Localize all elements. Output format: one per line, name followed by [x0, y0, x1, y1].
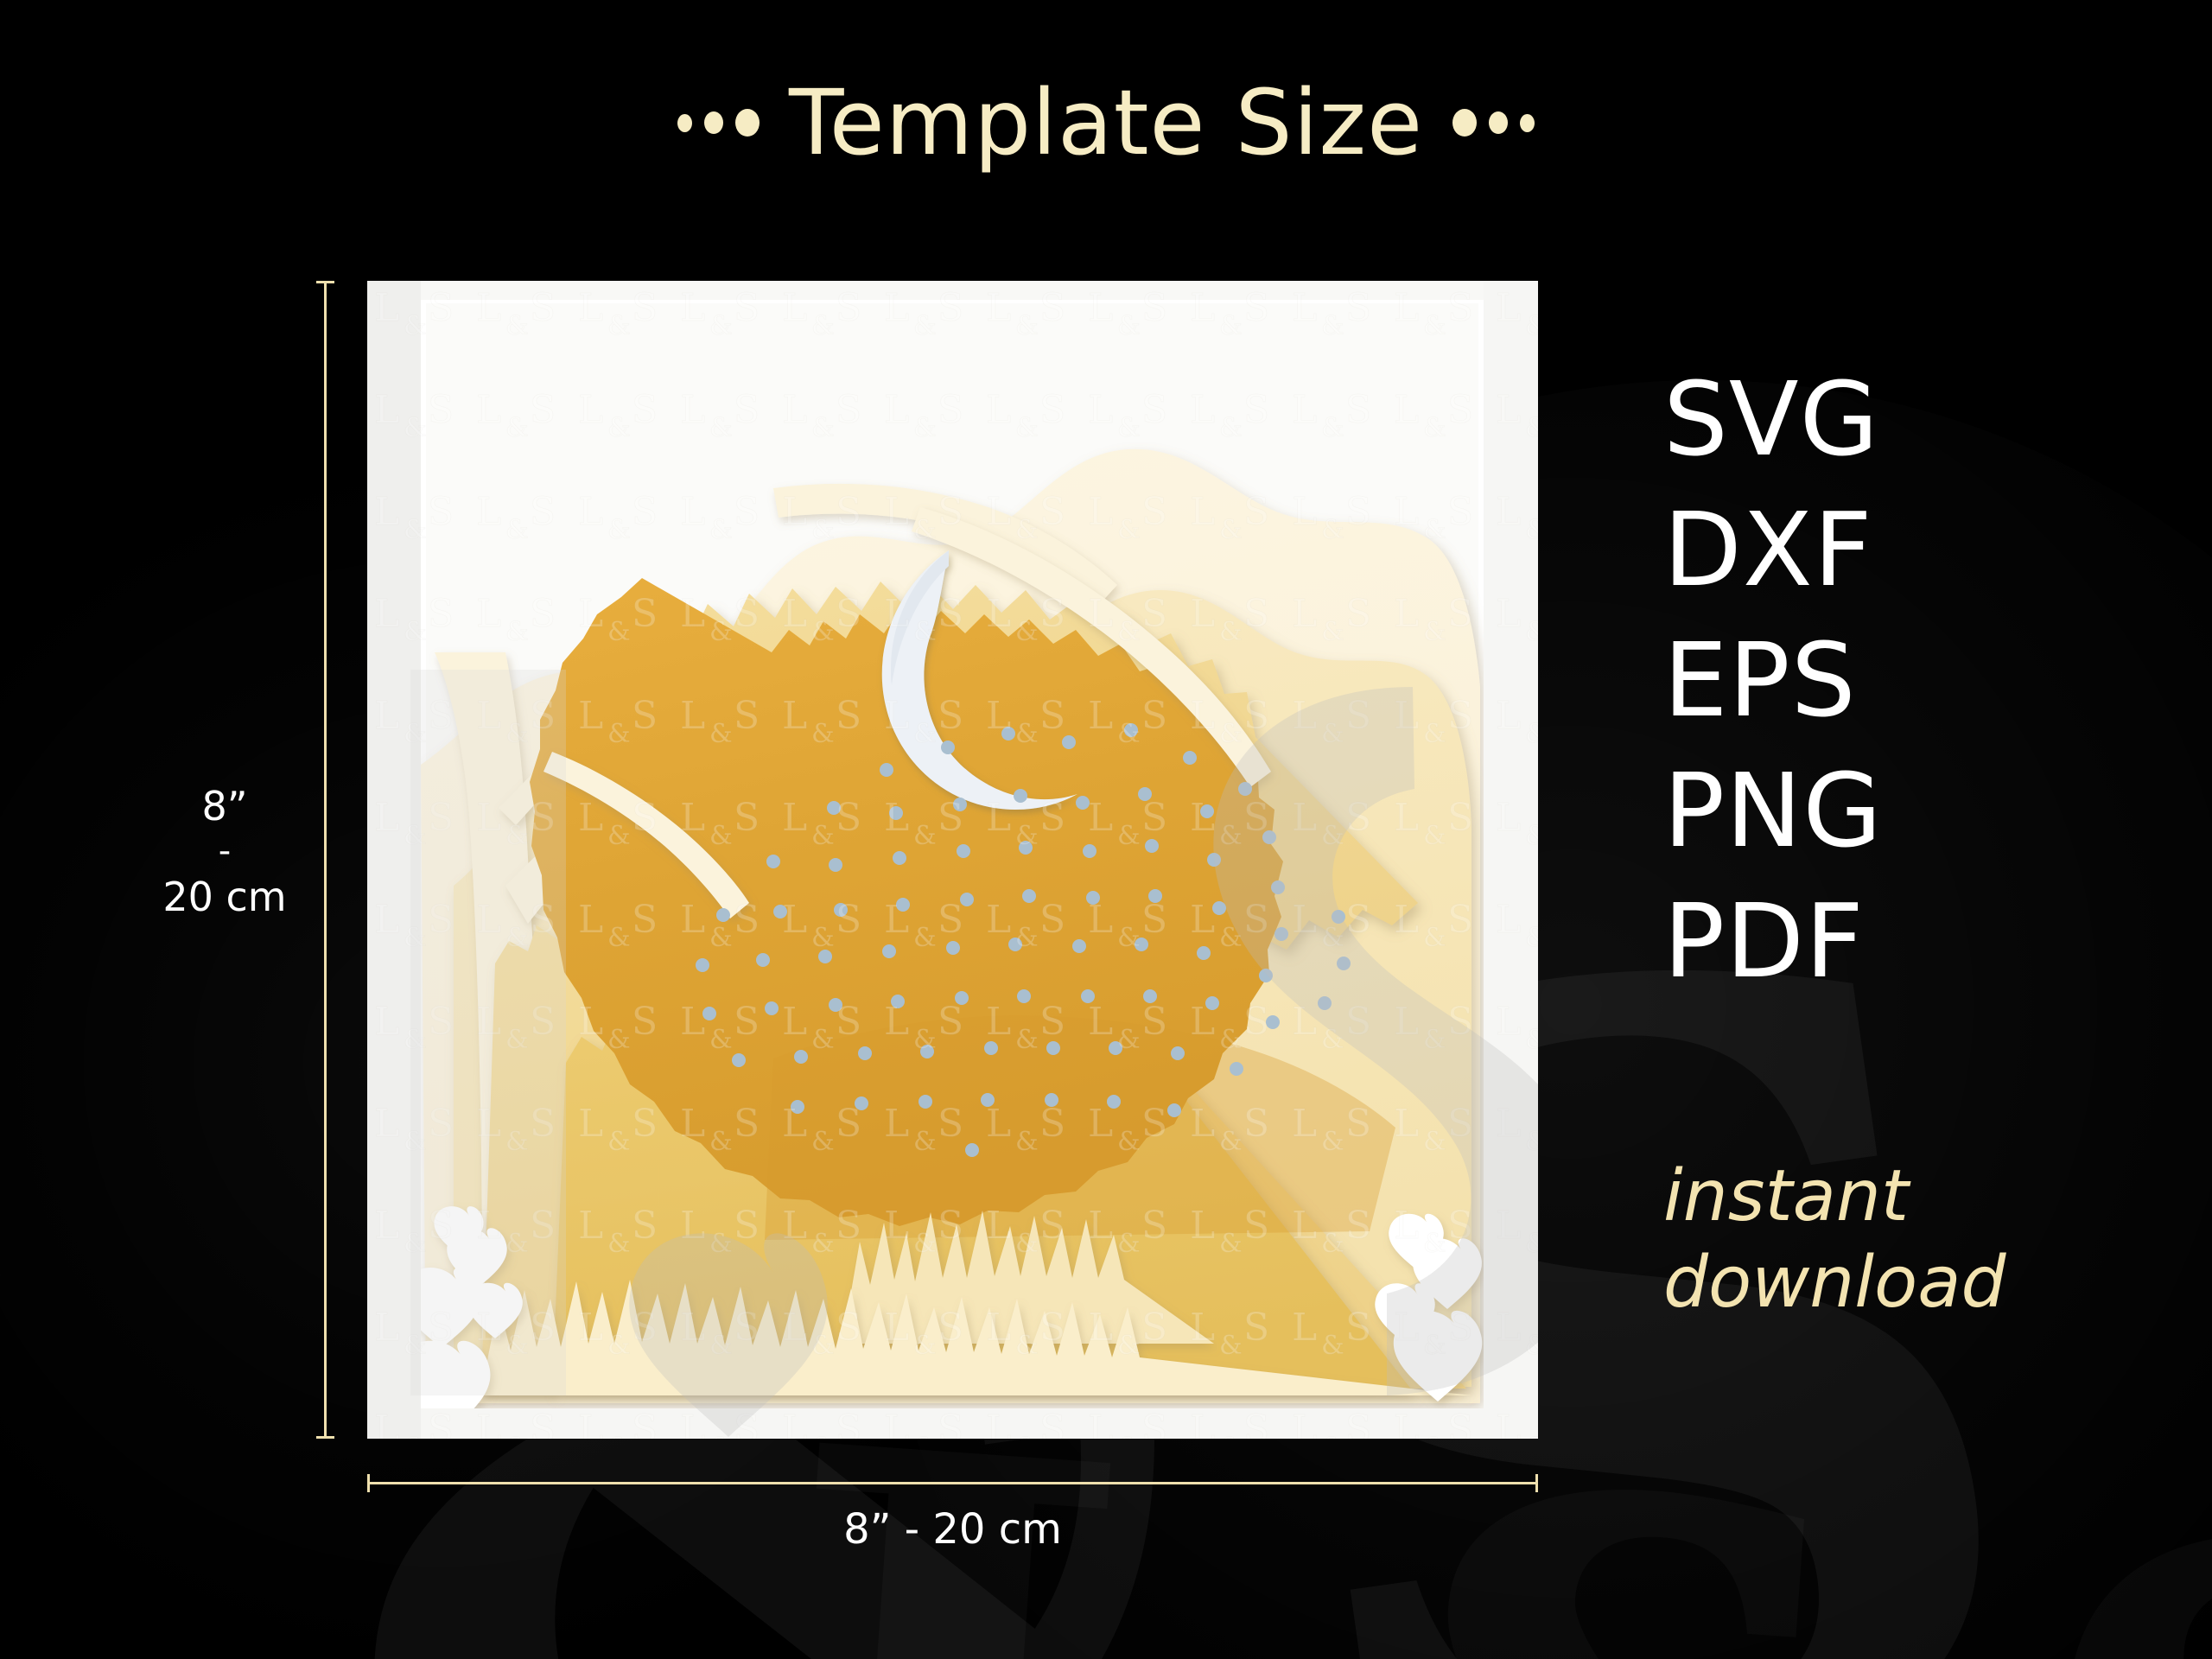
template-preview-image: L & S	[367, 281, 1538, 1439]
title-dots-left-icon	[677, 109, 760, 137]
promo-line-2: download	[1663, 1240, 2199, 1326]
horizontal-dimension-label: 8” - 20 cm	[367, 1505, 1538, 1554]
vertical-dimension-metric: 20 cm	[143, 873, 307, 921]
papercut-artwork-svg	[367, 281, 1538, 1439]
vertical-dimension-line	[324, 281, 327, 1439]
format-item-eps: EPS	[1663, 615, 2147, 746]
format-item-svg: SVG	[1663, 354, 2147, 485]
vertical-dimension-separator: -	[143, 830, 307, 873]
format-item-png: PNG	[1663, 746, 2147, 876]
page-title: Template Size	[789, 78, 1423, 168]
instant-download-badge: instant download	[1663, 1154, 2199, 1326]
horizontal-dimension-line	[367, 1482, 1538, 1484]
vertical-dimension-label: 8” - 20 cm	[143, 782, 307, 921]
poster-canvas: L&S L&S Template Size 8” - 20 cm 8” - 20…	[0, 0, 2212, 1659]
file-formats-list: SVG DXF EPS PNG PDF	[1663, 354, 2147, 1007]
title-dots-right-icon	[1452, 109, 1535, 137]
header: Template Size	[0, 78, 2212, 168]
format-item-pdf: PDF	[1663, 876, 2147, 1007]
vertical-dimension-inches: 8”	[143, 782, 307, 830]
format-item-dxf: DXF	[1663, 485, 2147, 615]
promo-line-1: instant	[1663, 1154, 2199, 1240]
